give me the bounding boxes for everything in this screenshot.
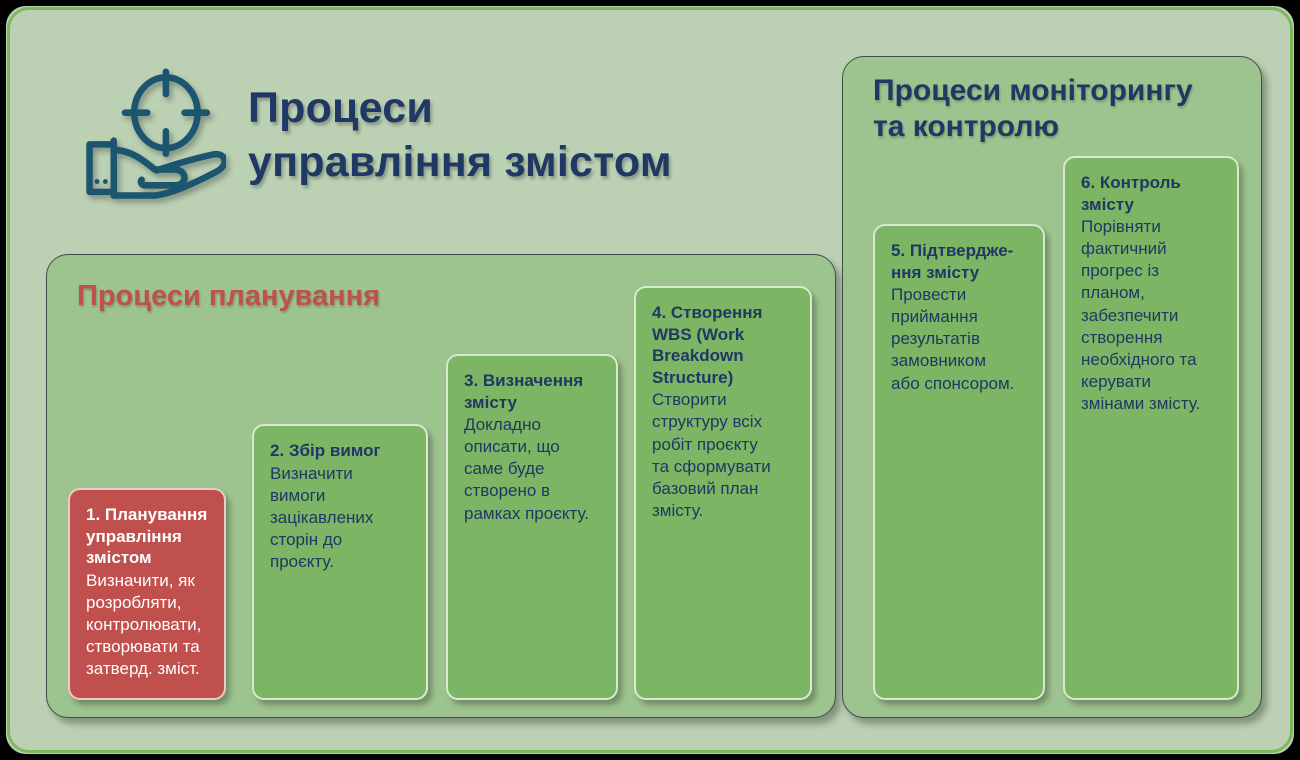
process-card-6-body: Порівняти фактичний прогрес із планом, з… (1081, 216, 1221, 415)
hand-holding-target-icon (76, 68, 226, 203)
process-card-3[interactable]: 3. Визначення змісту Докладно описати, щ… (446, 354, 618, 700)
process-card-5-body: Провести приймання результатів замовнико… (891, 284, 1027, 394)
process-card-2[interactable]: 2. Збір вимог Визначити вимоги зацікавле… (252, 424, 428, 700)
slide-canvas: Процеси управління змістом Процеси плану… (0, 0, 1300, 760)
process-card-6-title: 6. Контроль змісту (1081, 172, 1221, 215)
process-card-2-title: 2. Збір вимог (270, 440, 410, 462)
process-card-3-body: Докладно описати, що саме буде створено … (464, 414, 600, 524)
process-card-6[interactable]: 6. Контроль змісту Порівняти фактичний п… (1063, 156, 1239, 700)
process-card-5[interactable]: 5. Підтвердже- ння змісту Провести прийм… (873, 224, 1045, 700)
panel-monitoring-title: Процеси моніторингу та контролю (873, 73, 1193, 145)
process-card-4-title: 4. Створення WBS (Work Breakdown Structu… (652, 302, 794, 388)
page-title: Процеси управління змістом (248, 82, 672, 190)
slide-header: Процеси управління змістом (76, 68, 672, 203)
panel-planning-title: Процеси планування (77, 279, 380, 314)
process-card-3-title: 3. Визначення змісту (464, 370, 600, 413)
process-card-1[interactable]: 1. Планування управління змістом Визначи… (68, 488, 226, 700)
process-card-5-title: 5. Підтвердже- ння змісту (891, 240, 1027, 283)
process-card-1-title: 1. Планування управління змістом (86, 504, 208, 569)
process-card-2-body: Визначити вимоги зацікавлених сторін до … (270, 463, 410, 573)
process-card-4-body: Створити структуру всіх робіт проєкту та… (652, 389, 794, 522)
process-card-4[interactable]: 4. Створення WBS (Work Breakdown Structu… (634, 286, 812, 700)
process-card-1-body: Визначити, як розробляти, контролювати, … (86, 570, 208, 680)
